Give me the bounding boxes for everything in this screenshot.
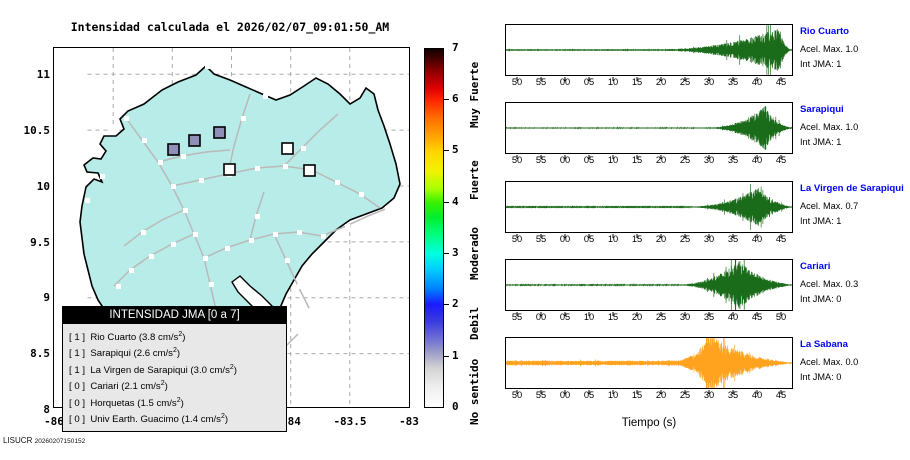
station-marker-cariari xyxy=(282,143,293,154)
waveform-station-name: La Virgen de Sarapiqui xyxy=(800,183,904,194)
waveform-tick-label: 35 xyxy=(728,77,738,87)
waveform-tick-label: 40 xyxy=(752,155,762,165)
waveform-tick-label: 50 xyxy=(512,234,522,244)
waveform-tick-label: 15 xyxy=(632,234,642,244)
waveform-tick-label: 35 xyxy=(728,155,738,165)
waveform-tick-label: 10 xyxy=(608,155,618,165)
colorbar-tick: 4 xyxy=(452,195,459,208)
waveform-tick-label: 35 xyxy=(728,234,738,244)
intensity-legend-list: [ 1 ] Rio Cuarto (3.8 cm/s2)[ 1 ] Sarapi… xyxy=(63,324,286,431)
waveform-tick-label: 00 xyxy=(560,390,570,400)
waveform-int-jma: Int JMA: 0 xyxy=(800,372,841,382)
waveform-tick-label: 40 xyxy=(752,390,762,400)
waveform-int-jma: Int JMA: 0 xyxy=(800,294,841,304)
waveform-tick-label: 35 xyxy=(728,390,738,400)
waveform-tick-label: 55 xyxy=(512,312,522,322)
waveform-xaxis-ticks: 505500051015202530354045 xyxy=(505,155,793,169)
colorbar-category: Muy Fuerte xyxy=(468,33,481,128)
colorbar-tickmark xyxy=(444,99,449,100)
colorbar-tick: 5 xyxy=(452,143,459,156)
waveform-tick-label: 20 xyxy=(632,312,642,322)
waveform-tick-label: 30 xyxy=(704,155,714,165)
waveform-station-name: Cariari xyxy=(800,261,830,272)
waveform-station-name: La Sabana xyxy=(800,339,848,350)
watermark-prefix: LISUCR xyxy=(3,436,32,445)
waveform-tick-label: 00 xyxy=(560,155,570,165)
colorbar-tick: 6 xyxy=(452,92,459,105)
colorbar-category: Moderado xyxy=(468,192,481,280)
waveform-station-name: Sarapiqui xyxy=(800,104,844,115)
intensity-legend-row: [ 0 ] Horquetas (1.5 cm/s2) xyxy=(69,394,280,410)
waveform-tick-label: 10 xyxy=(608,77,618,87)
waveform-tick-label: 40 xyxy=(728,312,738,322)
map-lat-tick: 9 xyxy=(5,291,50,304)
waveform-tick-label: 25 xyxy=(656,312,666,322)
colorbar-category: No sentido xyxy=(468,330,481,425)
waveform-tick-label: 30 xyxy=(704,390,714,400)
waveform-tick-label: 50 xyxy=(776,312,786,322)
waveform-tick-label: 10 xyxy=(608,234,618,244)
waveform-tick-label: 10 xyxy=(584,312,594,322)
map-lat-tick: 10 xyxy=(5,180,50,193)
colorbar-tickmark xyxy=(444,202,449,203)
map-lat-tick: 11 xyxy=(5,68,50,81)
waveform-acel-max: Acel. Max. 1.0 xyxy=(800,122,858,132)
waveform-tick-label: 25 xyxy=(680,234,690,244)
colorbar-category: Fuerte xyxy=(468,128,481,200)
colorbar-tickmark xyxy=(444,304,449,305)
waveform-tick-label: 45 xyxy=(752,312,762,322)
waveform-tick-label: 20 xyxy=(656,77,666,87)
intensity-colorbar xyxy=(424,48,444,408)
waveform-panel-la-virgen-de-sarapiqui[interactable] xyxy=(505,181,793,233)
colorbar-tick: 3 xyxy=(452,246,459,259)
waveform-tick-label: 10 xyxy=(608,390,618,400)
watermark-id: 20260207150152 xyxy=(35,438,86,445)
waveform-tick-label: 05 xyxy=(584,77,594,87)
waveform-tick-label: 50 xyxy=(512,155,522,165)
intensity-legend-row: [ 1 ] La Virgen de Sarapiqui (3.0 cm/s2) xyxy=(69,361,280,377)
waveform-acel-max: Acel. Max. 0.7 xyxy=(800,201,858,211)
waveform-tick-label: 20 xyxy=(656,390,666,400)
waveform-tick-label: 15 xyxy=(608,312,618,322)
station-marker-horquetas xyxy=(224,164,235,175)
station-marker-rio-cuarto xyxy=(214,127,225,138)
waveform-panel-cariari[interactable] xyxy=(505,259,793,311)
colorbar-tickmark xyxy=(444,150,449,151)
waveform-tick-label: 20 xyxy=(656,155,666,165)
intensity-legend: INTENSIDAD JMA [0 a 7] [ 1 ] Rio Cuarto … xyxy=(62,306,287,432)
map-lat-tick: 9.5 xyxy=(5,236,50,249)
waveform-station-name: Rio Cuarto xyxy=(800,26,849,37)
waveform-xaxis-ticks: 505500051015202530354045 xyxy=(505,390,793,404)
colorbar-tickmark xyxy=(444,253,449,254)
waveform-xaxis-label: Tiempo (s) xyxy=(505,417,793,429)
intensity-legend-row: [ 1 ] Sarapiqui (2.6 cm/s2) xyxy=(69,344,280,360)
intensity-legend-title: INTENSIDAD JMA [0 a 7] xyxy=(63,307,286,324)
waveform-tick-label: 40 xyxy=(752,77,762,87)
waveform-acel-max: Acel. Max. 0.0 xyxy=(800,357,858,367)
colorbar-tick: 1 xyxy=(452,349,459,362)
waveform-tick-label: 45 xyxy=(776,77,786,87)
station-marker-la-virgen-de-sarapiqui xyxy=(189,135,200,146)
colorbar-tickmark xyxy=(444,356,449,357)
waveform-tick-label: 05 xyxy=(584,234,594,244)
station-marker-univ-earth-guacimo xyxy=(304,165,315,176)
waveform-tick-label: 00 xyxy=(536,312,546,322)
watermark: LISUCR 20260207150152 xyxy=(3,436,85,445)
waveform-int-jma: Int JMA: 1 xyxy=(800,137,841,147)
waveform-tick-label: 30 xyxy=(704,77,714,87)
waveform-int-jma: Int JMA: 1 xyxy=(800,216,841,226)
waveform-tick-label: 15 xyxy=(632,77,642,87)
waveform-tick-label: 30 xyxy=(680,312,690,322)
waveform-tick-label: 00 xyxy=(560,77,570,87)
waveform-tick-label: 30 xyxy=(704,234,714,244)
waveform-tick-label: 25 xyxy=(680,77,690,87)
waveform-tick-label: 35 xyxy=(704,312,714,322)
waveform-tick-label: 25 xyxy=(680,390,690,400)
waveform-acel-max: Acel. Max. 0.3 xyxy=(800,279,858,289)
waveform-tick-label: 05 xyxy=(584,155,594,165)
waveform-panel-rio-cuarto[interactable] xyxy=(505,24,793,76)
waveform-tick-label: 50 xyxy=(512,77,522,87)
intensity-legend-row: [ 0 ] Cariari (2.1 cm/s2) xyxy=(69,377,280,393)
station-marker-sarapiqui xyxy=(168,144,179,155)
waveform-tick-label: 15 xyxy=(632,155,642,165)
waveform-xaxis-ticks: 505500051015202530354045 xyxy=(505,77,793,91)
colorbar-tick: 2 xyxy=(452,297,459,310)
waveform-panel-la-sabana[interactable] xyxy=(505,337,793,389)
intensity-legend-row: [ 1 ] Rio Cuarto (3.8 cm/s2) xyxy=(69,328,280,344)
waveform-tick-label: 55 xyxy=(536,390,546,400)
waveform-acel-max: Acel. Max. 1.0 xyxy=(800,44,858,54)
waveform-tick-label: 40 xyxy=(752,234,762,244)
waveform-tick-label: 20 xyxy=(656,234,666,244)
colorbar-tick: 0 xyxy=(452,400,459,413)
waveform-tick-label: 55 xyxy=(536,234,546,244)
waveform-tick-label: 45 xyxy=(776,390,786,400)
waveform-tick-label: 45 xyxy=(776,155,786,165)
waveform-tick-label: 55 xyxy=(536,77,546,87)
waveform-tick-label: 05 xyxy=(560,312,570,322)
map-title: Intensidad calculada el 2026/02/07_09:01… xyxy=(0,20,460,34)
waveform-panel-sarapiqui[interactable] xyxy=(505,102,793,154)
waveform-xaxis-ticks: 550005101520253035404550 xyxy=(505,312,793,326)
colorbar-tick: 7 xyxy=(452,41,459,54)
map-lat-tick: 10.5 xyxy=(5,124,50,137)
waveform-tick-label: 45 xyxy=(776,234,786,244)
waveform-tick-label: 05 xyxy=(584,390,594,400)
waveform-tick-label: 15 xyxy=(632,390,642,400)
waveform-tick-label: 25 xyxy=(680,155,690,165)
waveform-tick-label: 00 xyxy=(560,234,570,244)
waveform-tick-label: 55 xyxy=(536,155,546,165)
intensity-legend-row: [ 0 ] Univ Earth. Guacimo (1.4 cm/s2) xyxy=(69,410,280,426)
waveform-xaxis-ticks: 505500051015202530354045 xyxy=(505,234,793,248)
map-lon-tick: -83.5 xyxy=(320,415,380,428)
map-lon-tick: -83 xyxy=(379,415,439,428)
waveform-int-jma: Int JMA: 1 xyxy=(800,59,841,69)
map-lat-tick: 8.5 xyxy=(5,347,50,360)
waveform-tick-label: 50 xyxy=(512,390,522,400)
